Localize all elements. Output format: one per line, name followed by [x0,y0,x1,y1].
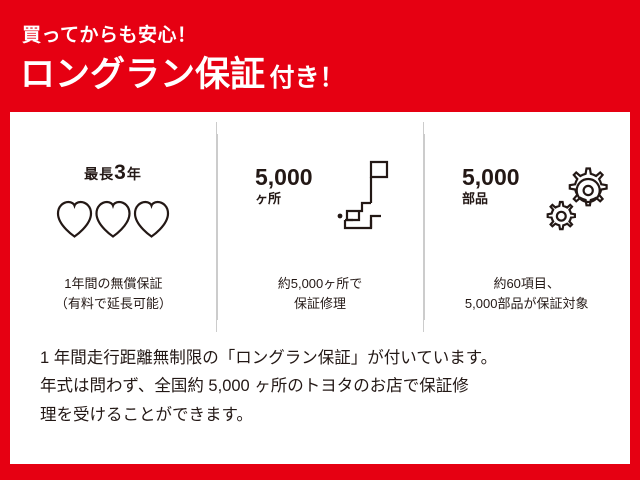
feature-1-graphic: 最長3年 [10,122,216,234]
feature-3-caption: 約60項目、 5,000部品が保証対象 [423,274,630,314]
header-title-suffix: 付き！ [269,64,344,92]
feature-3-title: 5,000 [462,166,520,189]
feature-2-heading: 5,000 ヶ所 [255,166,313,207]
feature-2-caption: 約5,000ヶ所で 保証修理 [217,274,424,314]
header-title-main: ロングラン保証 [20,55,265,94]
header-subtitle: 買ってからも安心！ [22,26,197,45]
header-title: ロングラン保証 付き！ [20,57,344,92]
feature-2-graphic: 5,000 ヶ所 [217,122,423,234]
feature-1-caption: 1年間の無償保証 （有料で延長可能） [10,274,217,314]
feature-3-caption-line2: 5,000部品が保証対象 [423,294,630,314]
feature-1-title-suffix: 年 [127,166,142,182]
warranty-banner: 買ってからも安心！ ロングラン保証 付き！ 最長3年 [0,0,640,480]
feature-1-caption-line1: 1年間の無償保証 [10,274,217,294]
gears-icon [544,162,622,239]
feature-2-caption-line2: 保証修理 [217,294,424,314]
map-pin-route-icon [335,160,397,237]
content-card: 最長3年 [10,112,630,464]
feature-1-title-number: 3 [114,161,127,184]
feature-captions-row: 1年間の無償保証 （有料で延長可能） 約5,000ヶ所で 保証修理 約60項目、… [10,274,630,314]
description-paragraph: 1 年間走行距離無制限の「ロングラン保証」が付いています。 年式は問わず、全国約… [40,344,602,429]
three-hearts-icon [10,196,216,240]
feature-3-subtitle: 部品 [462,191,520,207]
feature-3-graphic: 5,000 部品 [424,122,630,234]
feature-1-title-prefix: 最長 [84,166,114,182]
feature-2-caption-line1: 約5,000ヶ所で [217,274,424,294]
feature-1-heading: 最長3年 [10,162,216,183]
feature-1-caption-line2: （有料で延長可能） [10,294,217,314]
feature-2-subtitle: ヶ所 [255,191,313,207]
description-line-1: 1 年間走行距離無制限の「ロングラン保証」が付いています。 [40,344,602,372]
banner-header: 買ってからも安心！ ロングラン保証 付き！ [0,0,640,112]
feature-3-caption-line1: 約60項目、 [423,274,630,294]
description-line-3: 理を受けることができます。 [40,401,602,429]
feature-3-heading: 5,000 部品 [462,166,520,207]
feature-2-title: 5,000 [255,166,313,189]
description-line-2: 年式は問わず、全国約 5,000 ヶ所のトヨタのお店で保証修 [40,372,602,400]
